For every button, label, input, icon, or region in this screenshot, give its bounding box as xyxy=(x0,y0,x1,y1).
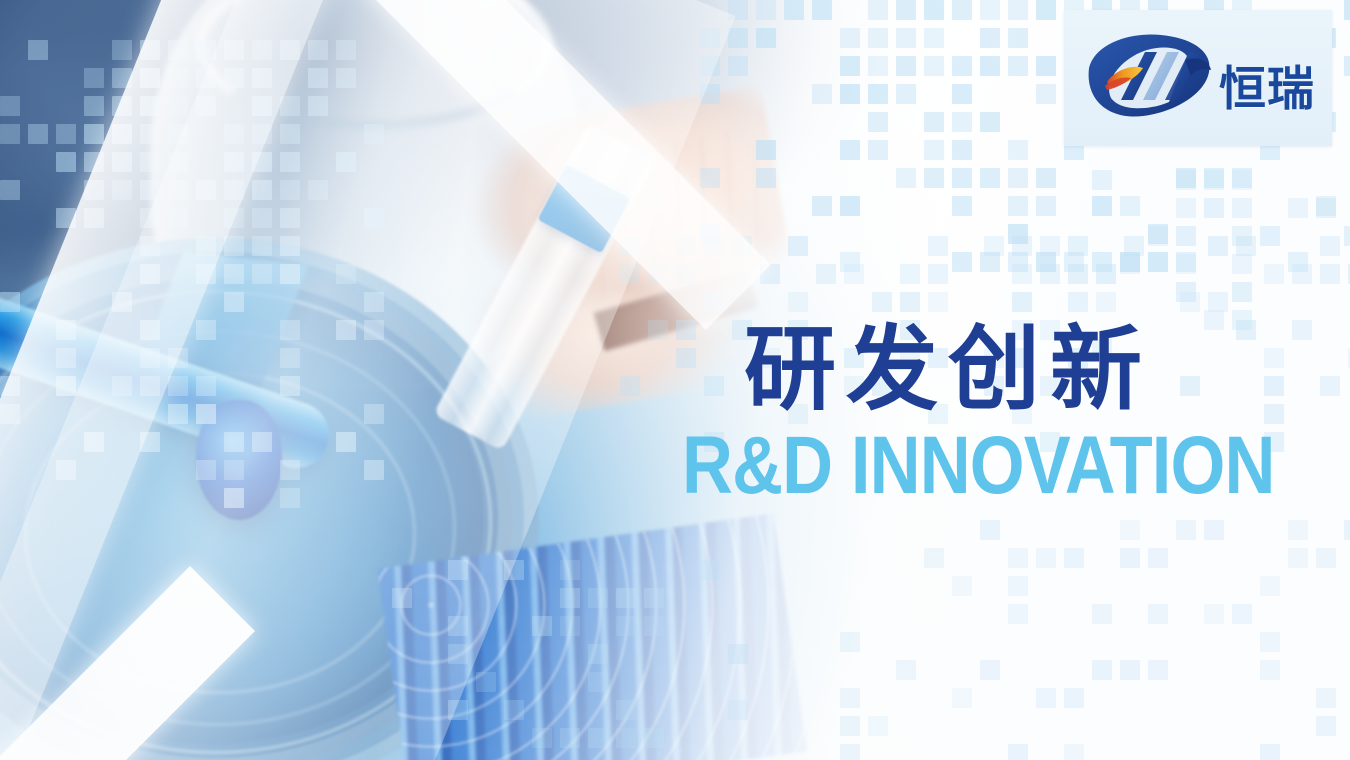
grid-square xyxy=(1176,170,1196,190)
grid-square xyxy=(648,320,668,340)
grid-square xyxy=(700,560,720,580)
grid-square xyxy=(1120,196,1140,216)
grid-square xyxy=(812,84,832,104)
grid-square xyxy=(896,168,916,188)
grid-square xyxy=(868,0,888,20)
grid-square xyxy=(872,292,892,312)
grid-square xyxy=(1120,520,1140,540)
grid-square xyxy=(928,264,948,284)
grid-square xyxy=(0,180,20,200)
rd-innovation-banner: 恒瑞 研发创新 R&D INNOVATION xyxy=(0,0,1350,760)
grid-square xyxy=(952,168,972,188)
grid-square xyxy=(84,124,104,144)
grid-square xyxy=(1040,236,1060,256)
grid-square xyxy=(1036,168,1056,188)
grid-square xyxy=(1288,520,1308,540)
grid-square xyxy=(1176,254,1196,274)
grid-square xyxy=(728,644,748,664)
grid-square xyxy=(1176,520,1196,540)
grid-square xyxy=(952,112,972,132)
grid-square xyxy=(756,0,776,20)
grid-square xyxy=(1260,226,1280,246)
grid-square xyxy=(980,56,1000,76)
grid-square xyxy=(1176,198,1196,218)
grid-square xyxy=(1176,282,1196,302)
grid-square xyxy=(700,168,720,188)
grid-square xyxy=(840,140,860,160)
grid-square xyxy=(1008,0,1028,20)
grid-square xyxy=(644,728,664,748)
grid-square xyxy=(868,84,888,104)
grid-square xyxy=(980,520,1000,540)
grid-square xyxy=(1008,168,1028,188)
grid-square xyxy=(1208,236,1228,256)
grid-square xyxy=(952,84,972,104)
grid-square xyxy=(1288,548,1308,568)
grid-square xyxy=(532,616,552,636)
headline-block: 研发创新 R&D INNOVATION xyxy=(744,322,1350,505)
grid-square xyxy=(840,716,860,736)
grid-square xyxy=(1232,198,1252,218)
grid-square xyxy=(844,264,864,284)
grid-square xyxy=(980,28,1000,48)
grid-square xyxy=(840,632,860,652)
grid-square xyxy=(1344,226,1350,246)
grid-square xyxy=(952,252,972,272)
grid-square xyxy=(924,0,944,20)
grid-square xyxy=(704,376,724,396)
headline-title-chinese: 研发创新 xyxy=(744,322,1350,419)
grid-square xyxy=(1148,604,1168,624)
grid-square xyxy=(28,124,48,144)
grid-square xyxy=(1316,688,1336,708)
grid-square xyxy=(756,168,776,188)
grid-square xyxy=(900,292,920,312)
grid-square xyxy=(868,140,888,160)
grid-square xyxy=(812,196,832,216)
grid-square xyxy=(1008,196,1028,216)
grid-square xyxy=(728,56,748,76)
grid-square xyxy=(1092,604,1112,624)
grid-square xyxy=(84,68,104,88)
grid-square xyxy=(896,28,916,48)
grid-square xyxy=(1204,198,1224,218)
grid-square xyxy=(616,588,636,608)
grid-square xyxy=(1292,264,1312,284)
grid-square xyxy=(896,0,916,20)
grid-square xyxy=(1008,744,1028,760)
grid-square xyxy=(1012,264,1032,284)
grid-square xyxy=(1008,28,1028,48)
grid-square xyxy=(676,348,696,368)
grid-square xyxy=(952,576,972,596)
grid-square xyxy=(900,264,920,284)
grid-square xyxy=(1316,716,1336,736)
grid-square xyxy=(1008,604,1028,624)
grid-square xyxy=(560,616,580,636)
grid-square xyxy=(588,588,608,608)
grid-square xyxy=(84,96,104,116)
grid-square xyxy=(1120,254,1140,274)
grid-square xyxy=(676,320,696,340)
grid-square xyxy=(1208,292,1228,312)
grid-square xyxy=(952,688,972,708)
grid-square xyxy=(928,236,948,256)
grid-square xyxy=(1204,604,1224,624)
grid-square xyxy=(952,0,972,20)
grid-square xyxy=(1008,548,1028,568)
grid-square xyxy=(952,56,972,76)
grid-square xyxy=(1092,196,1112,216)
grid-square xyxy=(756,140,776,160)
grid-square xyxy=(1320,264,1340,284)
grid-square xyxy=(644,588,664,608)
grid-square xyxy=(1232,254,1252,274)
grid-square xyxy=(1260,660,1280,680)
grid-square xyxy=(1036,56,1056,76)
grid-square xyxy=(840,744,860,760)
grid-square xyxy=(588,644,608,664)
grid-square xyxy=(1120,548,1140,568)
grid-square xyxy=(56,124,76,144)
grid-square xyxy=(616,728,636,748)
grid-square xyxy=(1068,292,1088,312)
grid-square xyxy=(816,264,836,284)
grid-square xyxy=(1012,292,1032,312)
grid-square xyxy=(1096,292,1116,312)
grid-square xyxy=(0,96,20,116)
grid-square xyxy=(0,292,20,312)
grid-square xyxy=(1176,226,1196,246)
grid-square xyxy=(788,292,808,312)
logo-plate[interactable]: 恒瑞 xyxy=(1064,10,1332,146)
grid-square xyxy=(896,56,916,76)
grid-square xyxy=(812,0,832,20)
grid-square xyxy=(560,588,580,608)
grid-square xyxy=(1008,56,1028,76)
grid-square xyxy=(1012,236,1032,256)
grid-square xyxy=(476,672,496,692)
grid-square xyxy=(1064,688,1084,708)
grid-square xyxy=(504,700,524,720)
grid-square xyxy=(952,140,972,160)
grid-square xyxy=(868,28,888,48)
grid-square xyxy=(1260,744,1280,760)
grid-square xyxy=(1344,56,1350,76)
grid-square xyxy=(924,56,944,76)
grid-square xyxy=(1288,198,1308,218)
grid-square xyxy=(0,124,20,144)
grid-square xyxy=(1148,660,1168,680)
grid-square xyxy=(1036,0,1056,20)
grid-square xyxy=(1124,236,1144,256)
grid-square xyxy=(112,40,132,60)
grid-square xyxy=(868,112,888,132)
grid-square xyxy=(924,28,944,48)
grid-square xyxy=(1092,170,1112,190)
grid-square xyxy=(924,112,944,132)
grid-square xyxy=(1068,264,1088,284)
grid-square xyxy=(1264,264,1284,284)
grid-square xyxy=(1040,264,1060,284)
grid-square xyxy=(840,688,860,708)
grid-square xyxy=(1148,226,1168,246)
grid-square xyxy=(1008,140,1028,160)
grid-square xyxy=(784,0,804,20)
grid-square xyxy=(840,56,860,76)
grid-square xyxy=(1120,660,1140,680)
grid-square xyxy=(788,236,808,256)
grid-square xyxy=(616,616,636,636)
grid-square xyxy=(756,28,776,48)
grid-square xyxy=(1036,84,1056,104)
grid-square xyxy=(896,660,916,680)
grid-square xyxy=(868,56,888,76)
grid-square xyxy=(1232,282,1252,302)
grid-square xyxy=(1232,226,1252,246)
grid-square xyxy=(1344,520,1350,540)
grid-square xyxy=(1096,264,1116,284)
grid-square xyxy=(1064,548,1084,568)
grid-square xyxy=(644,616,664,636)
grid-square xyxy=(728,700,748,720)
grid-square xyxy=(1232,170,1252,190)
hengrui-logo-mark xyxy=(1081,24,1217,132)
grid-square xyxy=(1036,548,1056,568)
grid-square xyxy=(56,152,76,172)
grid-square xyxy=(1008,576,1028,596)
grid-square xyxy=(560,728,580,748)
grid-square xyxy=(532,728,552,748)
grid-square xyxy=(728,28,748,48)
grid-square xyxy=(980,660,1000,680)
grid-square xyxy=(980,112,1000,132)
grid-square xyxy=(1036,196,1056,216)
grid-square xyxy=(1320,236,1340,256)
grid-square xyxy=(924,548,944,568)
grid-square xyxy=(588,728,608,748)
grid-square xyxy=(1036,688,1056,708)
grid-square xyxy=(868,716,888,736)
grid-square xyxy=(1260,576,1280,596)
grid-square xyxy=(588,672,608,692)
grid-square xyxy=(1344,0,1350,20)
grid-square xyxy=(1232,604,1252,624)
grid-square xyxy=(928,292,948,312)
grid-square xyxy=(896,84,916,104)
grid-square xyxy=(1092,660,1112,680)
grid-square xyxy=(560,560,580,580)
grid-square xyxy=(1148,252,1168,272)
grid-square xyxy=(840,28,860,48)
grid-square xyxy=(924,140,944,160)
grid-square xyxy=(980,168,1000,188)
grid-square xyxy=(840,196,860,216)
grid-square xyxy=(1316,548,1336,568)
grid-square xyxy=(616,700,636,720)
grid-square xyxy=(1148,548,1168,568)
grid-square xyxy=(1064,744,1084,760)
grid-square xyxy=(980,0,1000,20)
grid-square xyxy=(1204,520,1224,540)
grid-square xyxy=(1316,198,1336,218)
grid-square xyxy=(620,376,640,396)
grid-square xyxy=(1068,236,1088,256)
grid-square xyxy=(1260,632,1280,652)
grid-square xyxy=(984,236,1004,256)
grid-square xyxy=(28,40,48,60)
logo-company-name: 恒瑞 xyxy=(1219,66,1315,113)
grid-square xyxy=(924,168,944,188)
grid-square xyxy=(952,196,972,216)
grid-square xyxy=(1204,170,1224,190)
grid-square xyxy=(840,84,860,104)
headline-title-english: R&D INNOVATION xyxy=(682,427,1256,506)
